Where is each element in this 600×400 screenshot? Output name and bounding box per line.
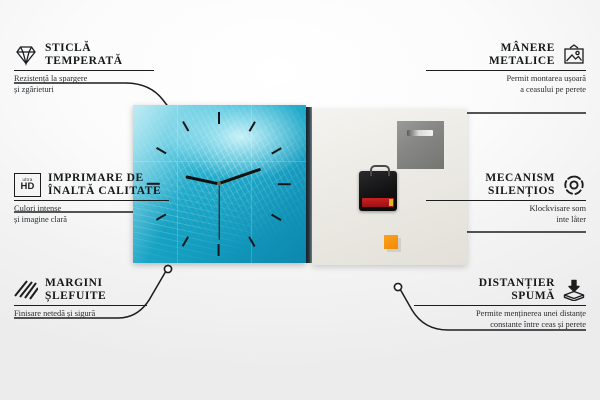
callout-subtitle-line1: Culori intense bbox=[14, 204, 199, 214]
ultra-hd-badge-icon: ultra HD bbox=[14, 173, 41, 197]
callout-divider bbox=[14, 305, 147, 306]
diagonal-lines-icon bbox=[14, 279, 38, 301]
callout-divider bbox=[414, 305, 586, 306]
callout-header: ultra HD IMPRIMARE DE ÎNALTĂ CALITATE bbox=[14, 172, 199, 197]
callout-subtitle-line2: și imagine clară bbox=[14, 215, 199, 225]
callout-title: IMPRIMARE DE ÎNALTĂ CALITATE bbox=[48, 172, 161, 197]
clock-tick bbox=[218, 244, 220, 256]
callout-imprimare-hd: ultra HD IMPRIMARE DE ÎNALTĂ CALITATE Cu… bbox=[14, 172, 199, 225]
glass-seam-horizontal bbox=[133, 161, 306, 162]
callout-subtitle-line1: Permite menținerea unei distanțe bbox=[391, 309, 586, 319]
callout-header: MÂNERE METALICE bbox=[401, 42, 586, 67]
callout-margini-slefuite: MARGINI ȘLEFUITE Finisare netedă și sigu… bbox=[14, 277, 199, 320]
callout-subtitle-line1: Finisare netedă și sigură bbox=[14, 309, 199, 319]
callout-divider bbox=[426, 70, 586, 71]
clock-tick bbox=[278, 183, 291, 185]
metal-hanger-plate bbox=[397, 121, 444, 169]
picture-frame-icon bbox=[562, 44, 586, 66]
callout-header: STICLĂ TEMPERATĂ bbox=[14, 42, 199, 67]
gear-icon bbox=[562, 174, 586, 196]
clock-center-pin bbox=[217, 182, 221, 186]
callout-title: DISTANȚIER SPUMĂ bbox=[479, 277, 555, 302]
hd-label: HD bbox=[20, 182, 34, 192]
callout-title: MÂNERE METALICE bbox=[489, 42, 555, 67]
callout-divider bbox=[14, 70, 154, 71]
callout-mecanism-silentios: MECANISM SILENȚIOS Klockvisare som inte … bbox=[401, 172, 586, 225]
callout-subtitle-line1: Klockvisare som bbox=[401, 204, 586, 214]
infographic-canvas: STICLĂ TEMPERATĂ Rezistență la spargere … bbox=[0, 0, 600, 400]
callout-title: MECANISM SILENȚIOS bbox=[485, 172, 555, 197]
callout-divider bbox=[426, 200, 586, 201]
callout-header: MARGINI ȘLEFUITE bbox=[14, 277, 199, 302]
callout-subtitle-line1: Rezistență la spargere bbox=[14, 74, 199, 84]
callout-divider bbox=[14, 200, 169, 201]
callout-header: MECANISM SILENȚIOS bbox=[401, 172, 586, 197]
callout-subtitle-line2: inte låter bbox=[401, 215, 586, 225]
callout-distantier-spuma: DISTANȚIER SPUMĂ Permite menținerea unei… bbox=[391, 277, 586, 330]
clock-second-hand bbox=[218, 184, 219, 240]
callout-title: MARGINI ȘLEFUITE bbox=[45, 277, 106, 302]
callout-title: STICLĂ TEMPERATĂ bbox=[45, 42, 123, 67]
battery-terminal bbox=[389, 199, 393, 206]
battery bbox=[362, 198, 394, 207]
callout-subtitle-line1: Permit montarea ușoară bbox=[401, 74, 586, 84]
callout-subtitle-line2: a ceasului pe perete bbox=[401, 85, 586, 95]
movement-hanger-loop bbox=[370, 165, 390, 176]
callout-subtitle-line2: constante între ceas și perete bbox=[391, 320, 586, 330]
callout-header: DISTANȚIER SPUMĂ bbox=[391, 277, 586, 302]
arrow-press-pad-icon bbox=[562, 279, 586, 301]
diamond-icon bbox=[14, 44, 38, 66]
clock-tick bbox=[218, 112, 220, 124]
callout-subtitle-line2: și zgârieturi bbox=[14, 85, 199, 95]
callout-sticla-temperata: STICLĂ TEMPERATĂ Rezistență la spargere … bbox=[14, 42, 199, 95]
callout-manere-metalice: MÂNERE METALICE Permit montarea ușoară a… bbox=[401, 42, 586, 95]
hanger-keyhole-slot bbox=[407, 130, 433, 136]
foam-spacer bbox=[384, 235, 398, 249]
clock-movement bbox=[359, 171, 397, 211]
